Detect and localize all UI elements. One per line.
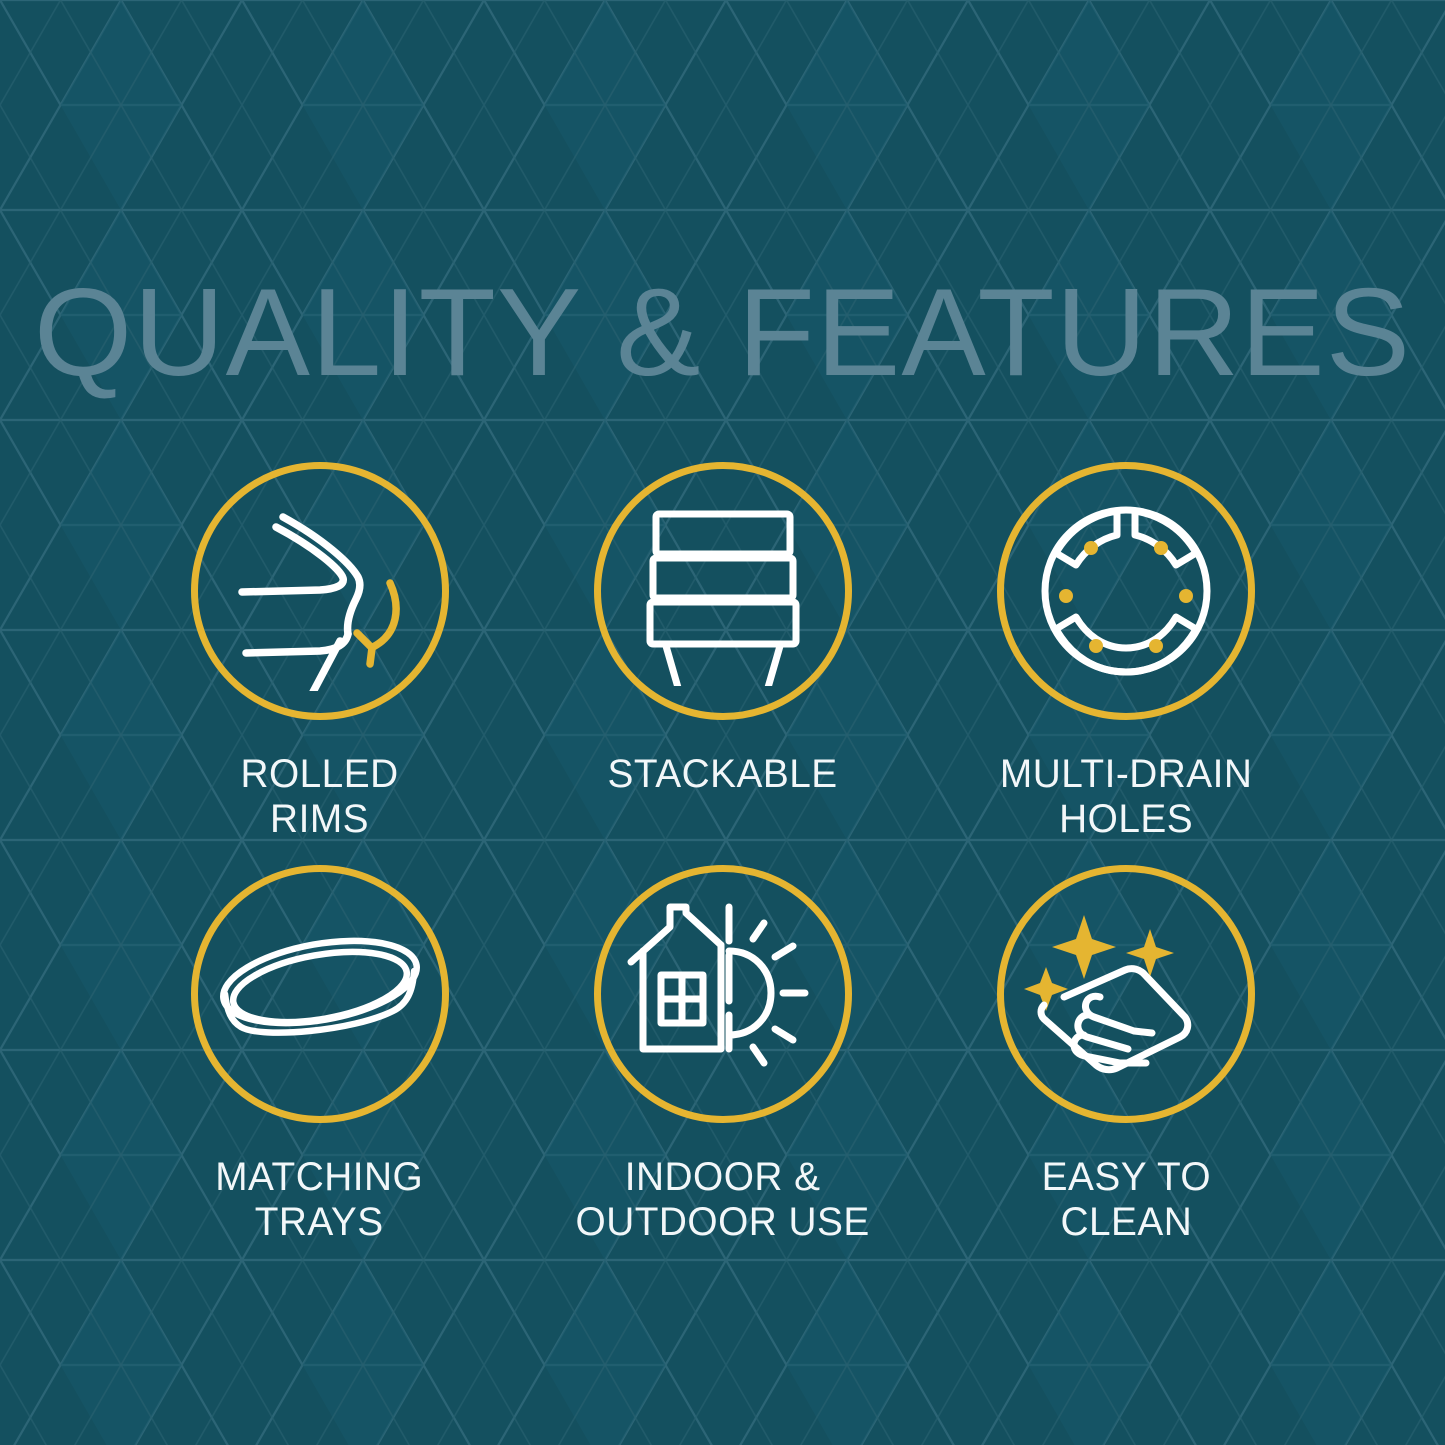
feature-stackable[interactable]: STACKABLE — [521, 462, 924, 865]
quality-and-features-panel: QUALITY & FEATURES ROLLED — [0, 0, 1445, 1445]
feature-grid: ROLLED RIMS STACKABLE — [118, 462, 1328, 1268]
feature-indoor-outdoor-use[interactable]: INDOOR & OUTDOOR USE — [521, 865, 924, 1268]
rolled-rim-icon-circle — [191, 462, 449, 720]
page-title: QUALITY & FEATURES — [0, 271, 1445, 395]
feature-label: MULTI-DRAIN HOLES — [1000, 752, 1253, 842]
hand-wiping-sparkle-icon-circle — [997, 865, 1255, 1123]
house-sun-icon-circle — [594, 865, 852, 1123]
hand-wiping-sparkle-icon — [1024, 897, 1229, 1092]
house-sun-icon — [623, 899, 823, 1089]
rolled-rim-icon — [220, 491, 420, 691]
drain-holes-icon-circle — [997, 462, 1255, 720]
feature-label: INDOOR & OUTDOOR USE — [576, 1155, 870, 1245]
stacked-pots-icon-circle — [594, 462, 852, 720]
feature-matching-trays[interactable]: MATCHING TRAYS — [118, 865, 521, 1268]
feature-label: MATCHING TRAYS — [216, 1155, 424, 1245]
drain-holes-icon — [1026, 491, 1226, 691]
feature-label: ROLLED RIMS — [241, 752, 399, 842]
feature-label: EASY TO CLEAN — [1042, 1155, 1211, 1245]
feature-label: STACKABLE — [608, 752, 838, 797]
feature-easy-to-clean[interactable]: EASY TO CLEAN — [925, 865, 1328, 1268]
feature-rolled-rims[interactable]: ROLLED RIMS — [118, 462, 521, 865]
feature-multi-drain-holes[interactable]: MULTI-DRAIN HOLES — [925, 462, 1328, 865]
oval-tray-icon-circle — [191, 865, 449, 1123]
oval-tray-icon — [215, 899, 425, 1089]
stacked-pots-icon — [628, 496, 818, 686]
